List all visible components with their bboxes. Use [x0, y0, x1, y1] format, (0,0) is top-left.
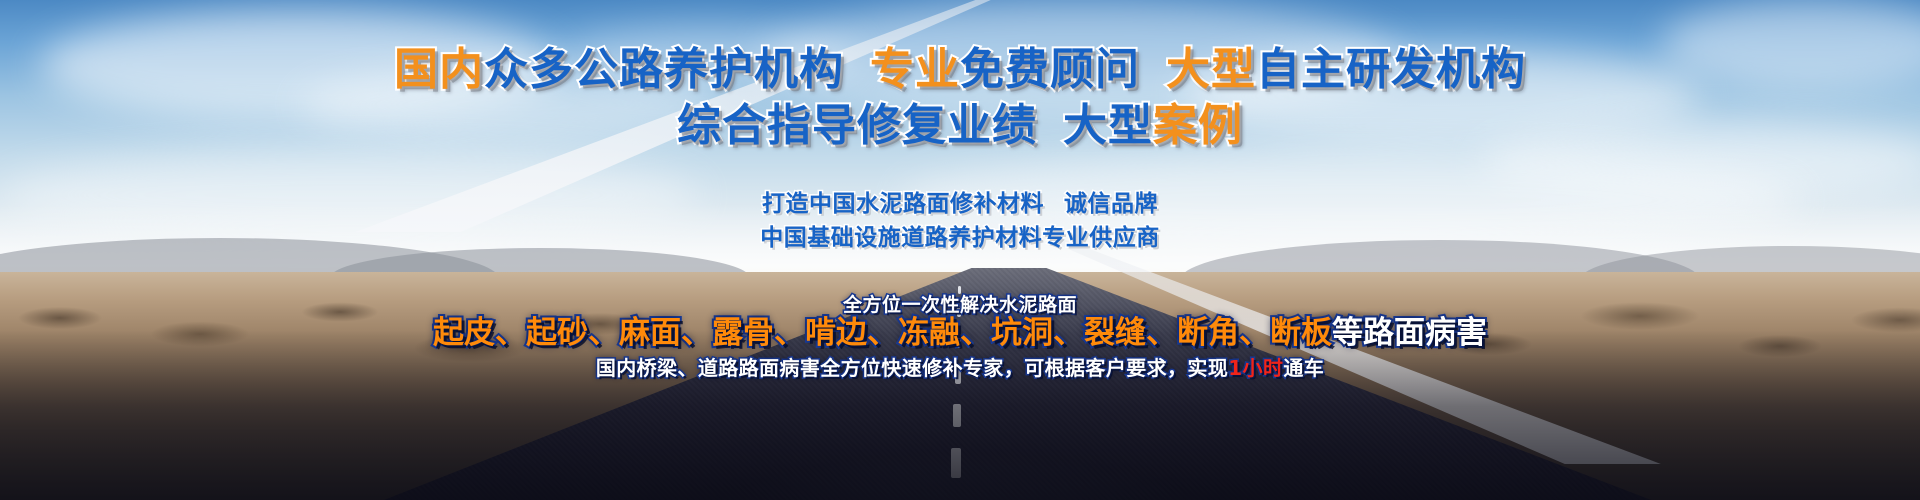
bottom-intro-line: 全方位一次性解决水泥路面: [0, 296, 1920, 315]
headline-1-seg-5: 大型: [1166, 44, 1256, 95]
headline-1-seg-1: 国内: [394, 44, 484, 95]
headline-2-seg-3: 案例: [1153, 100, 1243, 151]
subhead-2-part-b: 专业供应商: [1042, 225, 1160, 251]
claim-part-b: 通车: [1283, 356, 1324, 380]
claim-part-a: 国内桥梁、道路路面病害全方位快速修补专家，可根据客户要求，实现: [596, 356, 1228, 380]
subhead-1-part-b: 诚信品牌: [1064, 191, 1158, 217]
headline-1-seg-3: 专业: [870, 44, 960, 95]
bottom-defects-line: 起皮、起砂、麻面、露骨、啃边、冻融、坑洞、裂缝、断角、断板等路面病害: [0, 318, 1920, 349]
headline-1-seg-4: 免费顾问: [960, 44, 1140, 95]
headline-2-seg-1: 综合指导修复业绩: [677, 100, 1037, 151]
headline-1-seg-2: 众多公路养护机构: [484, 44, 844, 95]
headline-1-seg-6: 自主研发机构: [1256, 44, 1526, 95]
subhead-line-2: 中国基础设施道路养护材料专业供应商: [0, 227, 1920, 250]
subhead-1-part-a: 打造中国水泥路面修补材料: [762, 191, 1044, 217]
banner-text-stage: 国内众多公路养护机构专业免费顾问大型自主研发机构 综合指导修复业绩大型案例 打造…: [0, 0, 1920, 500]
bottom-claim-line: 国内桥梁、道路路面病害全方位快速修补专家，可根据客户要求，实现1小时通车: [0, 358, 1920, 378]
defect-list: 起皮、起砂、麻面、露骨、啃边、冻融、坑洞、裂缝、断角、断板: [433, 315, 1332, 351]
promo-banner: 国内众多公路养护机构专业免费顾问大型自主研发机构 综合指导修复业绩大型案例 打造…: [0, 0, 1920, 500]
headline-line-1: 国内众多公路养护机构专业免费顾问大型自主研发机构: [0, 48, 1920, 92]
claim-highlight: 1小时: [1228, 356, 1283, 380]
defect-suffix: 等路面病害: [1332, 315, 1487, 351]
headline-2-seg-2: 大型: [1063, 100, 1153, 151]
headline-line-2: 综合指导修复业绩大型案例: [0, 104, 1920, 148]
subhead-line-1: 打造中国水泥路面修补材料诚信品牌: [0, 193, 1920, 216]
subhead-2-part-a: 中国基础设施道路养护材料: [760, 225, 1042, 251]
